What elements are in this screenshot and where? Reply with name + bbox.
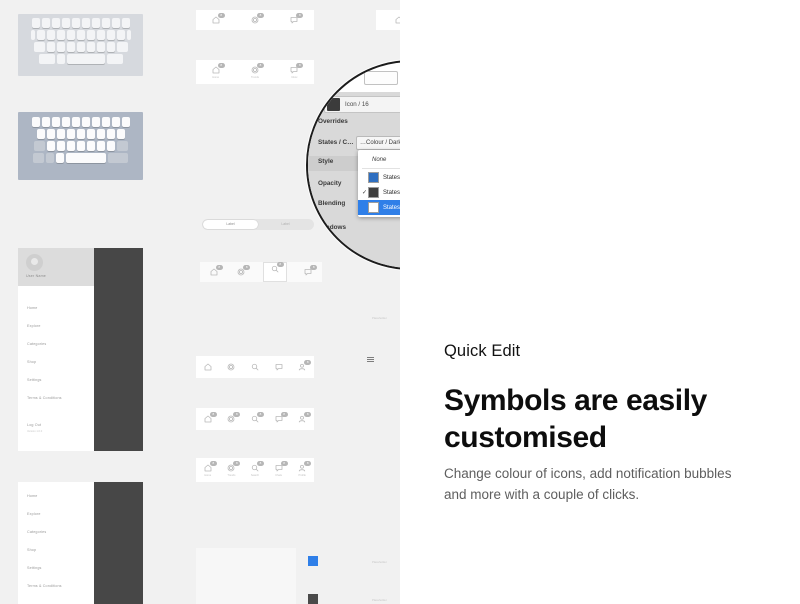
home-icon[interactable]: 8	[210, 64, 222, 76]
icon-bar-labeled[interactable]: 8 Home 8 Trends 8 Inbox	[196, 60, 314, 84]
menu-icon[interactable]	[367, 357, 374, 362]
key[interactable]	[107, 30, 115, 40]
dropdown-item-label: None	[372, 157, 386, 163]
placeholder-label: Placeholder	[372, 316, 387, 320]
notification-badge: 8	[304, 412, 311, 417]
body-text: Change colour of icons, add notification…	[444, 464, 734, 505]
key[interactable]	[47, 141, 55, 151]
icon-bar-top[interactable]: 8 8 8	[196, 10, 314, 30]
swatch-dark-grey-label: Placeholder	[372, 598, 387, 602]
chat-icon[interactable]: 8	[273, 462, 285, 474]
segment-label-selected[interactable]: Label	[203, 220, 258, 229]
tab-item[interactable]: 8 Home	[205, 64, 227, 80]
key[interactable]	[72, 18, 80, 28]
section-label-shadows[interactable]: Shadows	[318, 224, 346, 231]
swatch-dark-grey[interactable]	[308, 594, 318, 604]
drawer2-item-settings[interactable]: Settings	[27, 566, 42, 570]
nav-drawer-secondary[interactable]: Home Explore Categories Shop Settings Te…	[18, 482, 143, 604]
tab-item[interactable]: 8 Profile	[291, 462, 313, 478]
drawer2-item-home[interactable]: Home	[27, 494, 37, 498]
key[interactable]	[107, 42, 115, 52]
home-icon[interactable]	[202, 361, 214, 373]
search-icon[interactable]	[249, 361, 261, 373]
search-icon[interactable]: 8	[249, 462, 261, 474]
colour-swatch	[368, 172, 379, 183]
swatch-blue-label: Placeholder	[372, 560, 387, 564]
section-label-blending[interactable]: Blending	[318, 200, 345, 207]
checkmark-icon: ✓	[361, 189, 368, 196]
key[interactable]	[57, 129, 65, 139]
key[interactable]	[37, 129, 45, 139]
notification-badge: 8	[281, 412, 288, 417]
key[interactable]	[87, 42, 95, 52]
space-key[interactable]	[67, 54, 105, 64]
key[interactable]	[57, 141, 65, 151]
tab-label: Home	[204, 474, 211, 477]
key[interactable]	[97, 141, 105, 151]
tab-label: Trends	[251, 76, 259, 79]
home-icon[interactable]: 8	[202, 413, 214, 425]
drawer2-item-categories[interactable]: Categories	[27, 530, 46, 534]
key[interactable]	[77, 42, 85, 52]
key[interactable]	[67, 129, 75, 139]
notification-badge: 8	[210, 412, 217, 417]
shift-key[interactable]	[34, 141, 45, 151]
mic-key[interactable]	[57, 54, 65, 64]
icon-bar-mini[interactable]: 8 8 8 8	[200, 262, 322, 282]
notification-badge: 8	[257, 13, 264, 18]
return-key[interactable]	[108, 153, 128, 163]
key[interactable]	[107, 141, 115, 151]
notification-badge: 8	[277, 262, 284, 267]
chat-icon[interactable]: 8	[288, 14, 300, 26]
key[interactable]	[82, 117, 90, 127]
nav-drawer-primary[interactable]: User Name Home Explore Categories Shop S…	[18, 248, 143, 451]
notification-badge: 8	[210, 461, 217, 466]
key[interactable]	[32, 117, 40, 127]
key[interactable]	[77, 30, 85, 40]
backspace-key[interactable]	[117, 141, 128, 151]
notification-badge: 8	[304, 360, 311, 365]
tab-label: Home	[212, 76, 219, 79]
drawer-item-shop[interactable]: Shop	[27, 360, 36, 364]
tab-item-active[interactable]: 8	[263, 262, 287, 282]
notification-badge: 8	[281, 461, 288, 466]
app-version: Version 1.0.0	[27, 430, 42, 433]
keyboard-dark[interactable]	[18, 112, 143, 180]
key[interactable]	[32, 18, 40, 28]
notification-badge: 8	[233, 461, 240, 466]
numbers-key[interactable]	[33, 153, 44, 163]
drawer-item-explore[interactable]: Explore	[27, 324, 41, 328]
person-icon[interactable]: 8	[296, 462, 308, 474]
key[interactable]	[42, 18, 50, 28]
tab-bar-badged[interactable]: 8 8 8 8 8	[196, 408, 314, 430]
symbol-name: Icon / 16	[345, 101, 369, 108]
segmented-control[interactable]: Label Label	[202, 219, 314, 230]
drawer2-item-shop[interactable]: Shop	[27, 548, 36, 552]
gear-icon[interactable]: 8	[235, 266, 247, 278]
tab-item[interactable]: 8 Inbox	[283, 64, 305, 80]
tab-item[interactable]: 8 Chats	[268, 462, 290, 478]
key[interactable]	[92, 117, 100, 127]
gear-icon[interactable]: 8	[225, 413, 237, 425]
drawer-panel: Home Explore Categories Shop Settings Te…	[18, 482, 94, 604]
drawer-item-terms[interactable]: Terms & Conditions	[27, 396, 62, 400]
key-spacer	[127, 30, 131, 40]
key[interactable]	[47, 42, 55, 52]
chat-icon[interactable]: 8	[273, 413, 285, 425]
key[interactable]	[97, 129, 105, 139]
gear-icon[interactable]: 8	[249, 64, 261, 76]
key[interactable]	[82, 18, 90, 28]
drawer2-item-explore[interactable]: Explore	[27, 512, 41, 516]
key[interactable]	[102, 117, 110, 127]
key[interactable]	[77, 129, 85, 139]
key[interactable]	[47, 30, 55, 40]
user-name: User Name	[26, 274, 46, 278]
notification-badge: 8	[218, 63, 225, 68]
space-key[interactable]	[66, 153, 106, 163]
tab-label: Trends	[227, 474, 235, 477]
key[interactable]	[87, 141, 95, 151]
colour-swatch	[368, 187, 379, 198]
notification-badge: 8	[304, 461, 311, 466]
key[interactable]	[67, 42, 75, 52]
key[interactable]	[67, 141, 75, 151]
swatch-blue[interactable]	[308, 556, 318, 566]
key[interactable]	[97, 30, 105, 40]
key[interactable]	[122, 18, 130, 28]
section-label-opacity[interactable]: Opacity	[318, 180, 341, 187]
chat-icon[interactable]: 8	[288, 64, 300, 76]
drawer-item-settings[interactable]: Settings	[27, 378, 42, 382]
search-icon[interactable]: 8	[269, 263, 281, 275]
drawer-item-categories[interactable]: Categories	[27, 342, 46, 346]
key[interactable]	[107, 129, 115, 139]
gear-icon[interactable]: 8	[249, 14, 261, 26]
key[interactable]	[112, 117, 120, 127]
key[interactable]	[62, 117, 70, 127]
override-row-label: States / C…	[318, 139, 354, 146]
key[interactable]	[87, 129, 95, 139]
key[interactable]	[117, 129, 125, 139]
key[interactable]	[52, 18, 60, 28]
swatch-board	[196, 548, 296, 604]
colour-swatch	[368, 202, 379, 213]
emoji-key[interactable]	[56, 153, 64, 163]
key[interactable]	[47, 129, 55, 139]
key[interactable]	[77, 141, 85, 151]
numbers-key[interactable]	[39, 54, 55, 64]
drawer-header: User Name	[18, 248, 94, 286]
headline-text: Symbols are easily customised	[444, 382, 754, 456]
person-icon[interactable]: 8	[296, 361, 308, 373]
key[interactable]	[87, 30, 95, 40]
tab-bar-plain[interactable]: 8	[196, 356, 314, 378]
notification-badge: 8	[257, 412, 264, 417]
key[interactable]	[67, 30, 75, 40]
search-icon[interactable]: 8	[249, 413, 261, 425]
tab-item[interactable]: 8 Trends	[220, 462, 242, 478]
key[interactable]	[102, 18, 110, 28]
key[interactable]	[112, 18, 120, 28]
tab-item[interactable]: 8 Search	[244, 462, 266, 478]
gear-icon[interactable]	[225, 361, 237, 373]
chat-icon[interactable]	[273, 361, 285, 373]
key[interactable]	[52, 117, 60, 127]
home-icon[interactable]: 8	[208, 266, 220, 278]
height-input[interactable]	[364, 71, 398, 85]
marketing-panel: Quick Edit Symbols are easily customised…	[400, 0, 800, 604]
section-label-style[interactable]: Style	[318, 158, 333, 165]
key[interactable]	[122, 117, 130, 127]
key[interactable]	[37, 30, 45, 40]
notification-badge: 8	[233, 412, 240, 417]
key[interactable]	[57, 42, 65, 52]
notification-badge: 8	[218, 13, 225, 18]
keyboard-light[interactable]	[18, 14, 143, 76]
key[interactable]	[42, 117, 50, 127]
symbol-thumbnail	[327, 98, 340, 111]
notification-badge: 8	[243, 265, 250, 270]
overrides-header: Overrides	[318, 118, 348, 125]
tab-label: Profile	[298, 474, 305, 477]
tab-label: Chats	[275, 474, 282, 477]
notification-badge: 8	[296, 13, 303, 18]
key[interactable]	[117, 30, 125, 40]
return-key[interactable]	[107, 54, 123, 64]
drawer-panel: User Name Home Explore Categories Shop S…	[18, 248, 94, 451]
backspace-key[interactable]	[117, 42, 128, 52]
eyebrow-text: Quick Edit	[444, 342, 520, 361]
screenshot-root: User Name Home Explore Categories Shop S…	[0, 0, 800, 604]
key-spacer	[30, 129, 35, 139]
drawer-scrim[interactable]	[94, 482, 143, 604]
notification-badge: 8	[257, 461, 264, 466]
key[interactable]	[62, 18, 70, 28]
notification-badge: 8	[216, 265, 223, 270]
mic-key[interactable]	[46, 153, 54, 163]
tab-label: Inbox	[291, 76, 297, 79]
tab-item[interactable]: 8 Trends	[244, 64, 266, 80]
segment-label[interactable]: Label	[258, 220, 313, 229]
tab-bar-labeled[interactable]: 8 Home 8 Trends 8 Search	[196, 458, 314, 482]
key-spacer	[31, 30, 35, 40]
key[interactable]	[92, 18, 100, 28]
drawer-item-logout[interactable]: Log Out	[27, 423, 41, 427]
shift-key[interactable]	[34, 42, 45, 52]
key[interactable]	[97, 42, 105, 52]
drawer-item-home[interactable]: Home	[27, 306, 37, 310]
key[interactable]	[72, 117, 80, 127]
home-icon[interactable]: 8	[202, 462, 214, 474]
home-icon[interactable]: 8	[210, 14, 222, 26]
tab-item[interactable]: 8 Home	[197, 462, 219, 478]
drawer-scrim[interactable]	[94, 248, 143, 451]
tab-label: Search	[251, 474, 259, 477]
key-spacer	[127, 129, 132, 139]
key[interactable]	[57, 30, 65, 40]
drawer2-item-terms[interactable]: Terms & Conditions	[27, 584, 62, 588]
notification-badge: 8	[257, 63, 264, 68]
person-icon[interactable]: 8	[296, 413, 308, 425]
avatar	[26, 254, 43, 271]
notification-badge: 8	[296, 63, 303, 68]
gear-icon[interactable]: 8	[225, 462, 237, 474]
